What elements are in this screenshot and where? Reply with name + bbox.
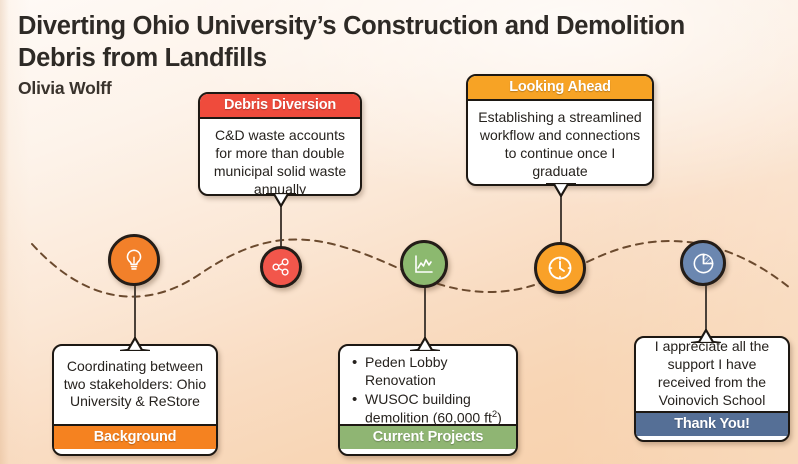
line-chart-icon: [412, 252, 436, 276]
callout-text-thank-you: I appreciate all the support I have rece…: [636, 338, 788, 411]
callout-thank-you[interactable]: I appreciate all the support I have rece…: [634, 336, 790, 442]
callout-text-background: Coordinating between two stakeholders: O…: [54, 346, 216, 424]
callout-text-current-projects: Peden Lobby Renovation WUSOC building de…: [340, 346, 516, 424]
share-network-icon: [270, 256, 292, 278]
callout-band-looking-ahead: Looking Ahead: [468, 76, 652, 101]
clock-icon: [545, 253, 575, 283]
timeline-node-chart[interactable]: [400, 240, 448, 288]
callout-band-debris-diversion: Debris Diversion: [200, 94, 360, 119]
callout-tail-looking-ahead: [546, 183, 576, 197]
author-name: Olivia Wolff: [18, 78, 112, 99]
callout-tail-current-projects: [410, 337, 440, 351]
timeline-node-pie[interactable]: [680, 240, 726, 286]
list-item: Peden Lobby Renovation: [350, 354, 508, 390]
callout-current-projects[interactable]: Peden Lobby Renovation WUSOC building de…: [338, 344, 518, 456]
lightbulb-icon: [121, 247, 147, 273]
pie-chart-icon: [691, 251, 716, 276]
page-title: Diverting Ohio University’s Construction…: [18, 10, 728, 74]
list-item: WUSOC building demolition (60,000 ft2): [350, 391, 508, 427]
callout-debris-diversion[interactable]: Debris Diversion C&D waste accounts for …: [198, 92, 362, 196]
timeline-node-clock[interactable]: [534, 242, 586, 294]
callout-text-looking-ahead: Establishing a streamlined workflow and …: [468, 101, 652, 186]
callout-text-debris-diversion: C&D waste accounts for more than double …: [200, 119, 360, 196]
current-projects-list: Peden Lobby Renovation WUSOC building de…: [350, 354, 508, 427]
timeline-node-lightbulb[interactable]: [108, 234, 160, 286]
callout-background[interactable]: Coordinating between two stakeholders: O…: [52, 344, 218, 456]
callout-band-background: Background: [54, 424, 216, 449]
callout-band-current-projects: Current Projects: [340, 424, 516, 449]
slide-canvas: Diverting Ohio University’s Construction…: [0, 0, 798, 464]
callout-tail-background: [120, 337, 150, 351]
callout-looking-ahead[interactable]: Looking Ahead Establishing a streamlined…: [466, 74, 654, 186]
callout-band-thank-you: Thank You!: [636, 411, 788, 436]
callout-tail-debris-diversion: [266, 193, 296, 207]
timeline-node-share[interactable]: [260, 246, 302, 288]
callout-tail-thank-you: [691, 329, 721, 343]
